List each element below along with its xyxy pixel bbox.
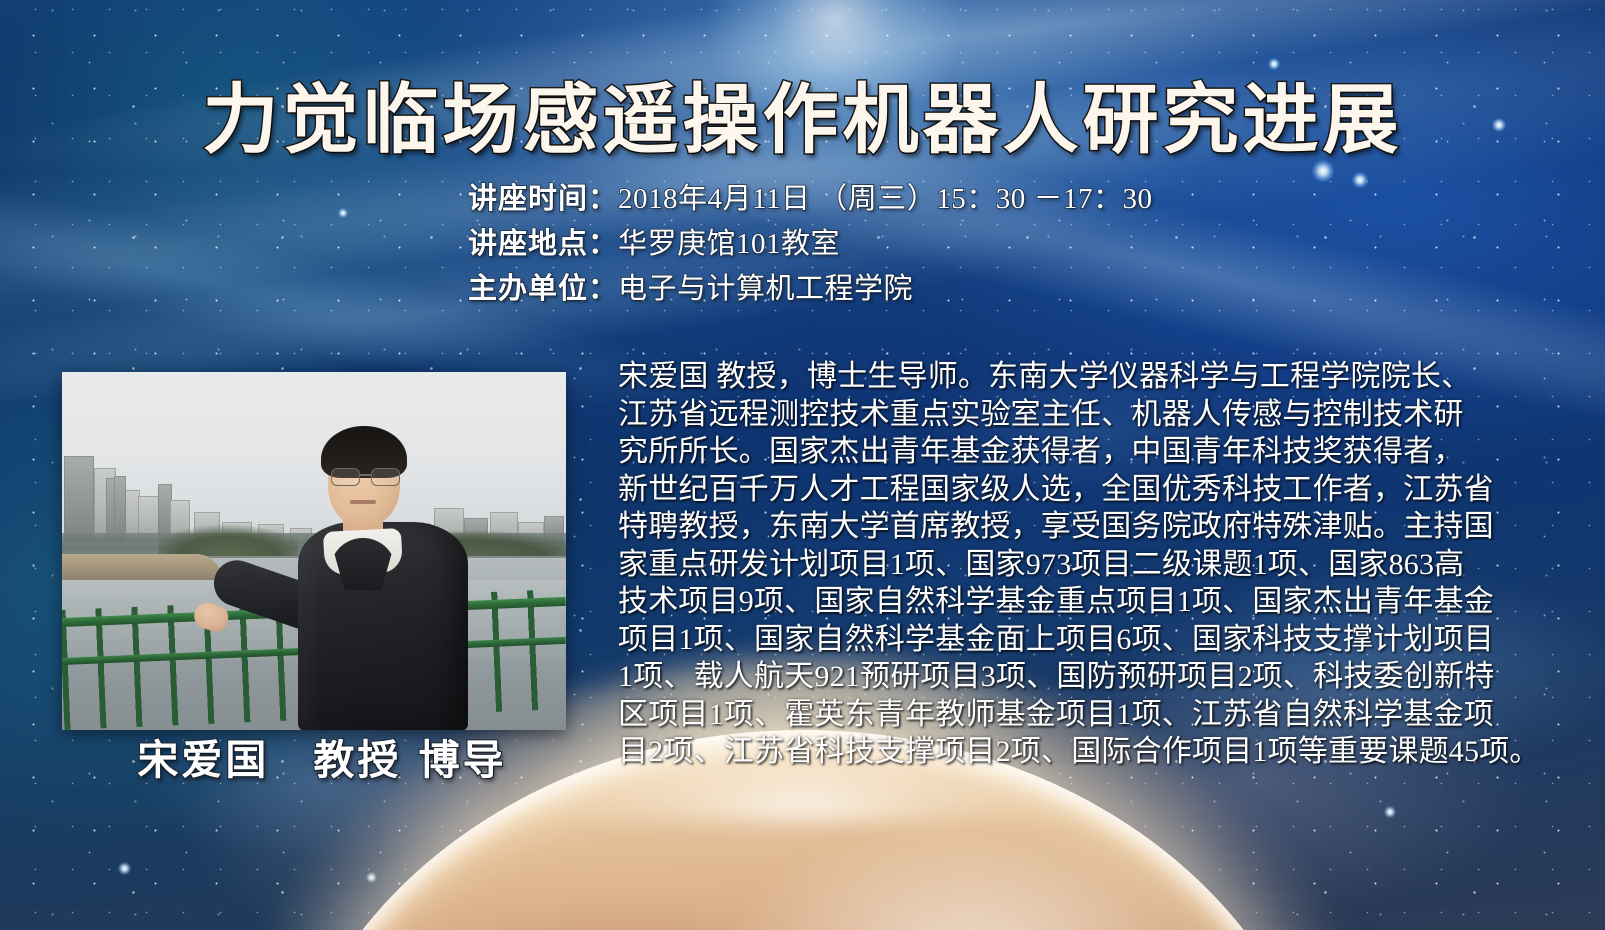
- bio-line: 区项目1项、霍英东青年教师基金项目1项、江苏省自然科学基金项: [618, 696, 1442, 734]
- bio-line: 特聘教授，东南大学首席教授，享受国务院政府特殊津贴。主持国: [618, 508, 1442, 546]
- speaker-biography: 宋爱国 教授，博士生导师。东南大学仪器科学与工程学院院长、 江苏省远程测控技术重…: [618, 358, 1442, 771]
- bio-line: 新世纪百千万人才工程国家级人选，全国优秀科技工作者，江苏省: [618, 471, 1442, 509]
- photo-building: [64, 456, 94, 542]
- info-row-time: 讲座时间：2018年4月11日 （周三）15：30 －17：30: [468, 176, 1152, 221]
- bio-line: 项目1项、国家自然科学基金面上项目6项、国家科技支撑计划项目: [618, 621, 1442, 659]
- bio-line: 家重点研发计划项目1项、国家973项目二级课题1项、国家863高: [618, 546, 1442, 584]
- photo-person-mouth: [350, 500, 376, 504]
- glasses-lens-left: [331, 468, 360, 486]
- info-label-organizer: 主办单位：: [468, 271, 618, 305]
- bio-line: 江苏省远程测控技术重点实验室主任、机器人传感与控制技术研: [618, 396, 1442, 434]
- info-value-time: 2018年4月11日 （周三）15：30 －17：30: [618, 183, 1152, 215]
- photo-riverbank: [62, 554, 222, 580]
- info-row-organizer: 主办单位：电子与计算机工程学院: [468, 266, 1152, 311]
- photo-building: [114, 476, 126, 542]
- bio-line: 目2项、江苏省科技支撑项目2项、国际合作项目1项等重要课题45项。: [618, 733, 1442, 771]
- bio-line: 技术项目9项、国家自然科学基金重点项目1项、国家杰出青年基金: [618, 583, 1442, 621]
- photo-person-glasses: [330, 468, 400, 484]
- glasses-lens-right: [371, 468, 400, 486]
- glasses-bridge: [359, 474, 372, 476]
- info-label-time: 讲座时间：: [468, 181, 618, 215]
- speaker-caption: 宋爱国 教授 博导: [62, 726, 582, 786]
- info-row-location: 讲座地点：华罗庚馆101教室: [468, 221, 1152, 266]
- lecture-info-block: 讲座时间：2018年4月11日 （周三）15：30 －17：30 讲座地点：华罗…: [468, 176, 1152, 311]
- lecture-poster: 力觉临场感遥操作机器人研究进展 讲座时间：2018年4月11日 （周三）15：3…: [0, 0, 1605, 930]
- page-title: 力觉临场感遥操作机器人研究进展: [0, 82, 1605, 158]
- info-label-location: 讲座地点：: [468, 226, 618, 260]
- info-value-location: 华罗庚馆101教室: [618, 228, 840, 260]
- bio-line: 1项、载人航天921预研项目3项、国防预研项目2项、科技委创新特: [618, 658, 1442, 696]
- bio-line: 宋爱国 教授，博士生导师。东南大学仪器科学与工程学院院长、: [618, 358, 1442, 396]
- photo-vegetation: [158, 524, 298, 556]
- speaker-photo: [62, 372, 566, 730]
- info-value-organizer: 电子与计算机工程学院: [618, 273, 913, 305]
- bio-line: 究所所长。国家杰出青年基金获得者，中国青年科技奖获得者，: [618, 433, 1442, 471]
